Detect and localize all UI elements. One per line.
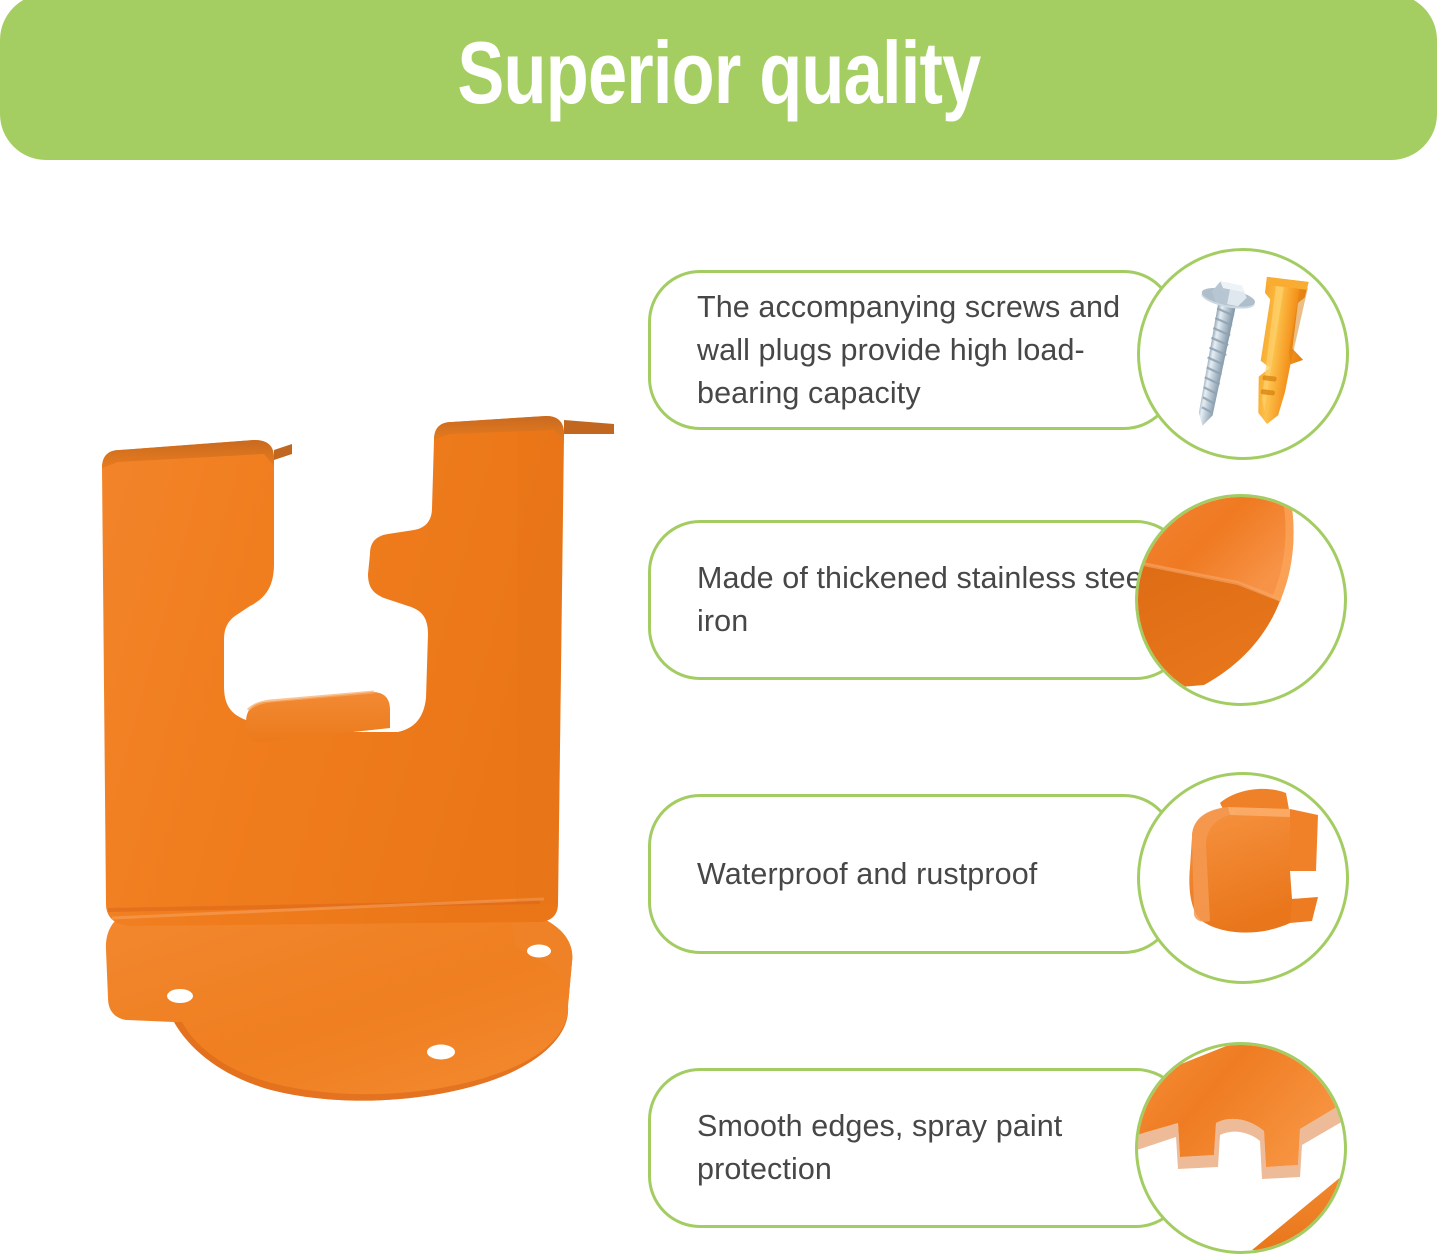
mounting-hole-left (167, 989, 193, 1003)
hex-screw (1177, 278, 1258, 431)
folded-metal-edge-icon (1135, 494, 1347, 706)
right-arm-flange-tip (564, 420, 614, 434)
product-image (78, 410, 618, 1110)
feature-row: Waterproof and rustproof (648, 786, 1408, 962)
wall-plug (1249, 277, 1312, 428)
feature-text-box: Waterproof and rustproof (648, 794, 1176, 954)
feature-row: Made of thickened stainless steel iron (648, 512, 1408, 688)
bracket-illustration (78, 410, 618, 1110)
feature-label: Smooth edges, spray paint protection (651, 1105, 1185, 1191)
screw-and-wall-plug-icon (1137, 248, 1349, 460)
panel-shade (516, 428, 564, 906)
left-arm-flange-tip (274, 444, 292, 460)
base-plate (106, 908, 572, 1101)
header-banner: Superior quality (0, 0, 1437, 160)
feature-text-box: Made of thickened stainless steel iron (648, 520, 1188, 680)
feature-text-box: The accompanying screws and wall plugs p… (648, 270, 1176, 430)
feature-label: The accompanying screws and wall plugs p… (651, 286, 1173, 415)
feature-row: The accompanying screws and wall plugs p… (648, 262, 1408, 438)
feature-list: The accompanying screws and wall plugs p… (648, 262, 1408, 1252)
u-cutout-edges-icon (1135, 1042, 1347, 1254)
feature-text-box: Smooth edges, spray paint protection (648, 1068, 1188, 1228)
mounting-hole-center (427, 1045, 455, 1060)
bracket-corner-icon (1137, 772, 1349, 984)
feature-label: Waterproof and rustproof (651, 853, 1047, 896)
mounting-hole-right (527, 945, 551, 958)
feature-label: Made of thickened stainless steel iron (651, 557, 1185, 643)
page-title: Superior quality (457, 29, 980, 125)
feature-row: Smooth edges, spray paint protection (648, 1060, 1408, 1236)
back-panel (102, 416, 564, 926)
